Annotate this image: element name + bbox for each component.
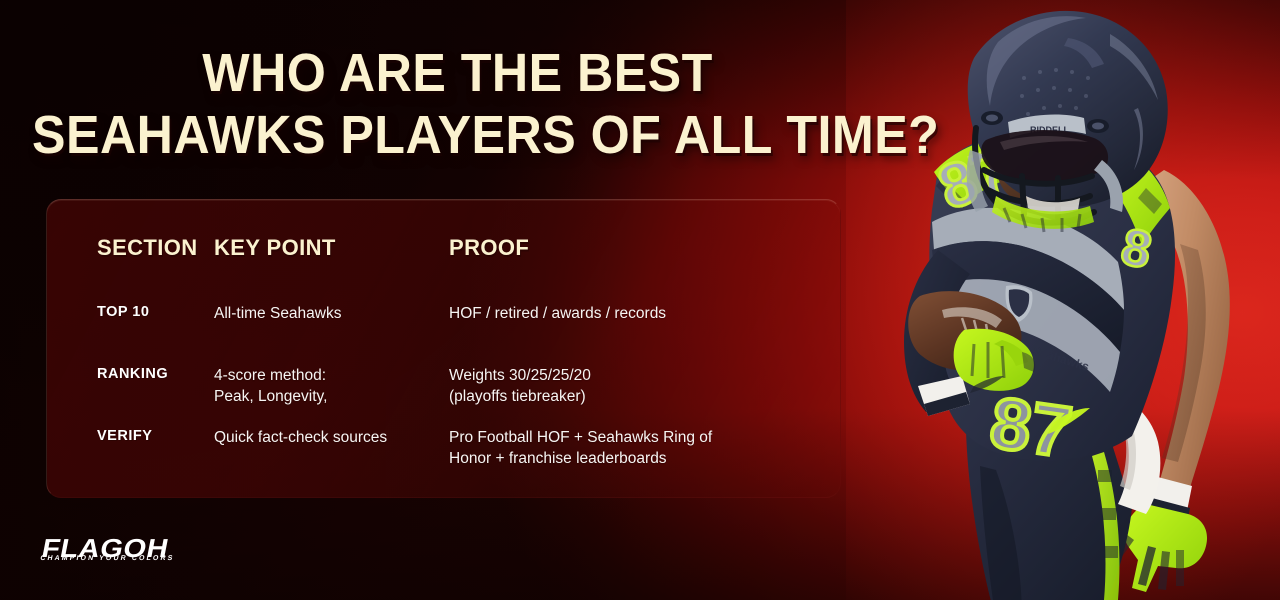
logo-tagline: CHAMPION YOUR COLORS <box>39 554 175 563</box>
table-row: RANKING 4-score method: Peak, Longevity,… <box>46 365 876 407</box>
row-keypoint-verify: Quick fact-check sources <box>214 427 449 469</box>
table-row: TOP 10 All-time Seahawks HOF / retired /… <box>46 303 876 324</box>
summary-table: SECTION KEY POINT PROOF TOP 10 All-time … <box>46 199 876 498</box>
table-header-row: SECTION KEY POINT PROOF <box>46 235 876 261</box>
row-keypoint-ranking: 4-score method: Peak, Longevity, <box>214 365 449 407</box>
row-keypoint-top10: All-time Seahawks <box>214 303 449 324</box>
row-proof-ranking: Weights 30/25/25/20 (playoffs tiebreaker… <box>449 365 825 407</box>
header-cell-section: SECTION <box>46 235 214 261</box>
row-label-verify: VERIFY <box>46 427 214 469</box>
title-line-1: WHO ARE THE BEST <box>32 46 883 100</box>
header-cell-key-point: KEY POINT <box>214 235 449 261</box>
header-cell-proof: PROOF <box>449 235 825 261</box>
page-title: WHO ARE THE BEST SEAHAWKS PLAYERS OF ALL… <box>0 46 915 162</box>
graphic-canvas: Seahawks 87 8 87 <box>0 0 1280 600</box>
row-label-top10: TOP 10 <box>46 303 214 324</box>
row-proof-top10: HOF / retired / awards / records <box>449 303 825 324</box>
title-line-2: SEAHAWKS PLAYERS OF ALL TIME? <box>32 108 883 162</box>
row-proof-verify: Pro Football HOF + Seahawks Ring of Hono… <box>449 427 825 469</box>
table-row: VERIFY Quick fact-check sources Pro Foot… <box>46 427 876 469</box>
svg-text:87: 87 <box>986 383 1076 473</box>
row-label-ranking: RANKING <box>46 365 214 407</box>
brand-logo: FLAGOH CHAMPION YOUR COLORS <box>39 536 178 563</box>
